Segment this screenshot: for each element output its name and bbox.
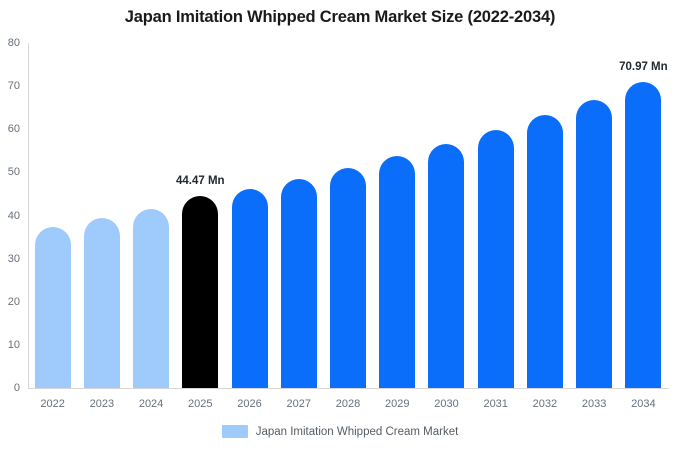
bar-group: 2023	[84, 43, 120, 388]
chart-legend: Japan Imitation Whipped Cream Market	[0, 425, 680, 438]
y-axis-tick-label: 50	[8, 166, 28, 178]
bar[interactable]	[527, 115, 563, 388]
bar-group: 2026	[232, 43, 268, 388]
bar[interactable]	[428, 144, 464, 388]
y-axis-tick-label: 20	[8, 296, 28, 308]
bar[interactable]	[281, 179, 317, 388]
bar-group: 44.47 Mn2025	[182, 43, 218, 388]
x-axis-tick-label: 2025	[188, 398, 212, 410]
x-axis-tick-label: 2031	[483, 398, 507, 410]
bar-series: 20222023202444.47 Mn20252026202720282029…	[28, 43, 668, 388]
bar[interactable]	[232, 189, 268, 388]
y-axis-tick-label: 70	[8, 80, 28, 92]
bar-group: 70.97 Mn2034	[625, 43, 661, 388]
bar[interactable]	[379, 156, 415, 388]
y-axis-tick-label: 10	[8, 339, 28, 351]
x-axis-line	[28, 388, 669, 389]
bar[interactable]	[84, 218, 120, 388]
bar-group: 2027	[281, 43, 317, 388]
bar[interactable]	[330, 168, 366, 388]
x-axis-tick-label: 2023	[90, 398, 114, 410]
y-axis-tick-label: 30	[8, 253, 28, 265]
bar[interactable]	[576, 100, 612, 388]
x-axis-tick-label: 2029	[385, 398, 409, 410]
x-axis-tick-label: 2022	[40, 398, 64, 410]
legend-swatch	[222, 425, 248, 438]
x-axis-tick-label: 2027	[287, 398, 311, 410]
bar-group: 2022	[35, 43, 71, 388]
bar-group: 2031	[478, 43, 514, 388]
x-axis-tick-label: 2024	[139, 398, 163, 410]
x-axis-tick-label: 2026	[237, 398, 261, 410]
bar[interactable]	[625, 82, 661, 388]
bar-group: 2030	[428, 43, 464, 388]
y-axis-tick-label: 60	[8, 123, 28, 135]
bar-group: 2029	[379, 43, 415, 388]
chart-title: Japan Imitation Whipped Cream Market Siz…	[0, 8, 680, 27]
x-axis-tick-label: 2030	[434, 398, 458, 410]
plot-area: 80706050403020100 20222023202444.47 Mn20…	[28, 43, 668, 388]
chart-container: Japan Imitation Whipped Cream Market Siz…	[0, 0, 680, 450]
bar-group: 2032	[527, 43, 563, 388]
bar-value-label: 44.47 Mn	[176, 175, 225, 187]
x-axis-tick-label: 2033	[582, 398, 606, 410]
x-axis-tick-label: 2028	[336, 398, 360, 410]
y-axis-tick-label: 80	[8, 37, 28, 49]
bar-group: 2028	[330, 43, 366, 388]
bar[interactable]	[478, 130, 514, 388]
bar-group: 2024	[133, 43, 169, 388]
bar-group: 2033	[576, 43, 612, 388]
x-axis-tick-label: 2032	[533, 398, 557, 410]
x-axis-tick-label: 2034	[631, 398, 655, 410]
legend-label: Japan Imitation Whipped Cream Market	[256, 426, 459, 438]
bar-value-label: 70.97 Mn	[619, 61, 668, 73]
bar[interactable]	[133, 209, 169, 388]
y-axis-tick-label: 0	[14, 382, 28, 394]
y-axis-tick-label: 40	[8, 210, 28, 222]
bar[interactable]	[35, 227, 71, 388]
bar[interactable]	[182, 196, 218, 388]
